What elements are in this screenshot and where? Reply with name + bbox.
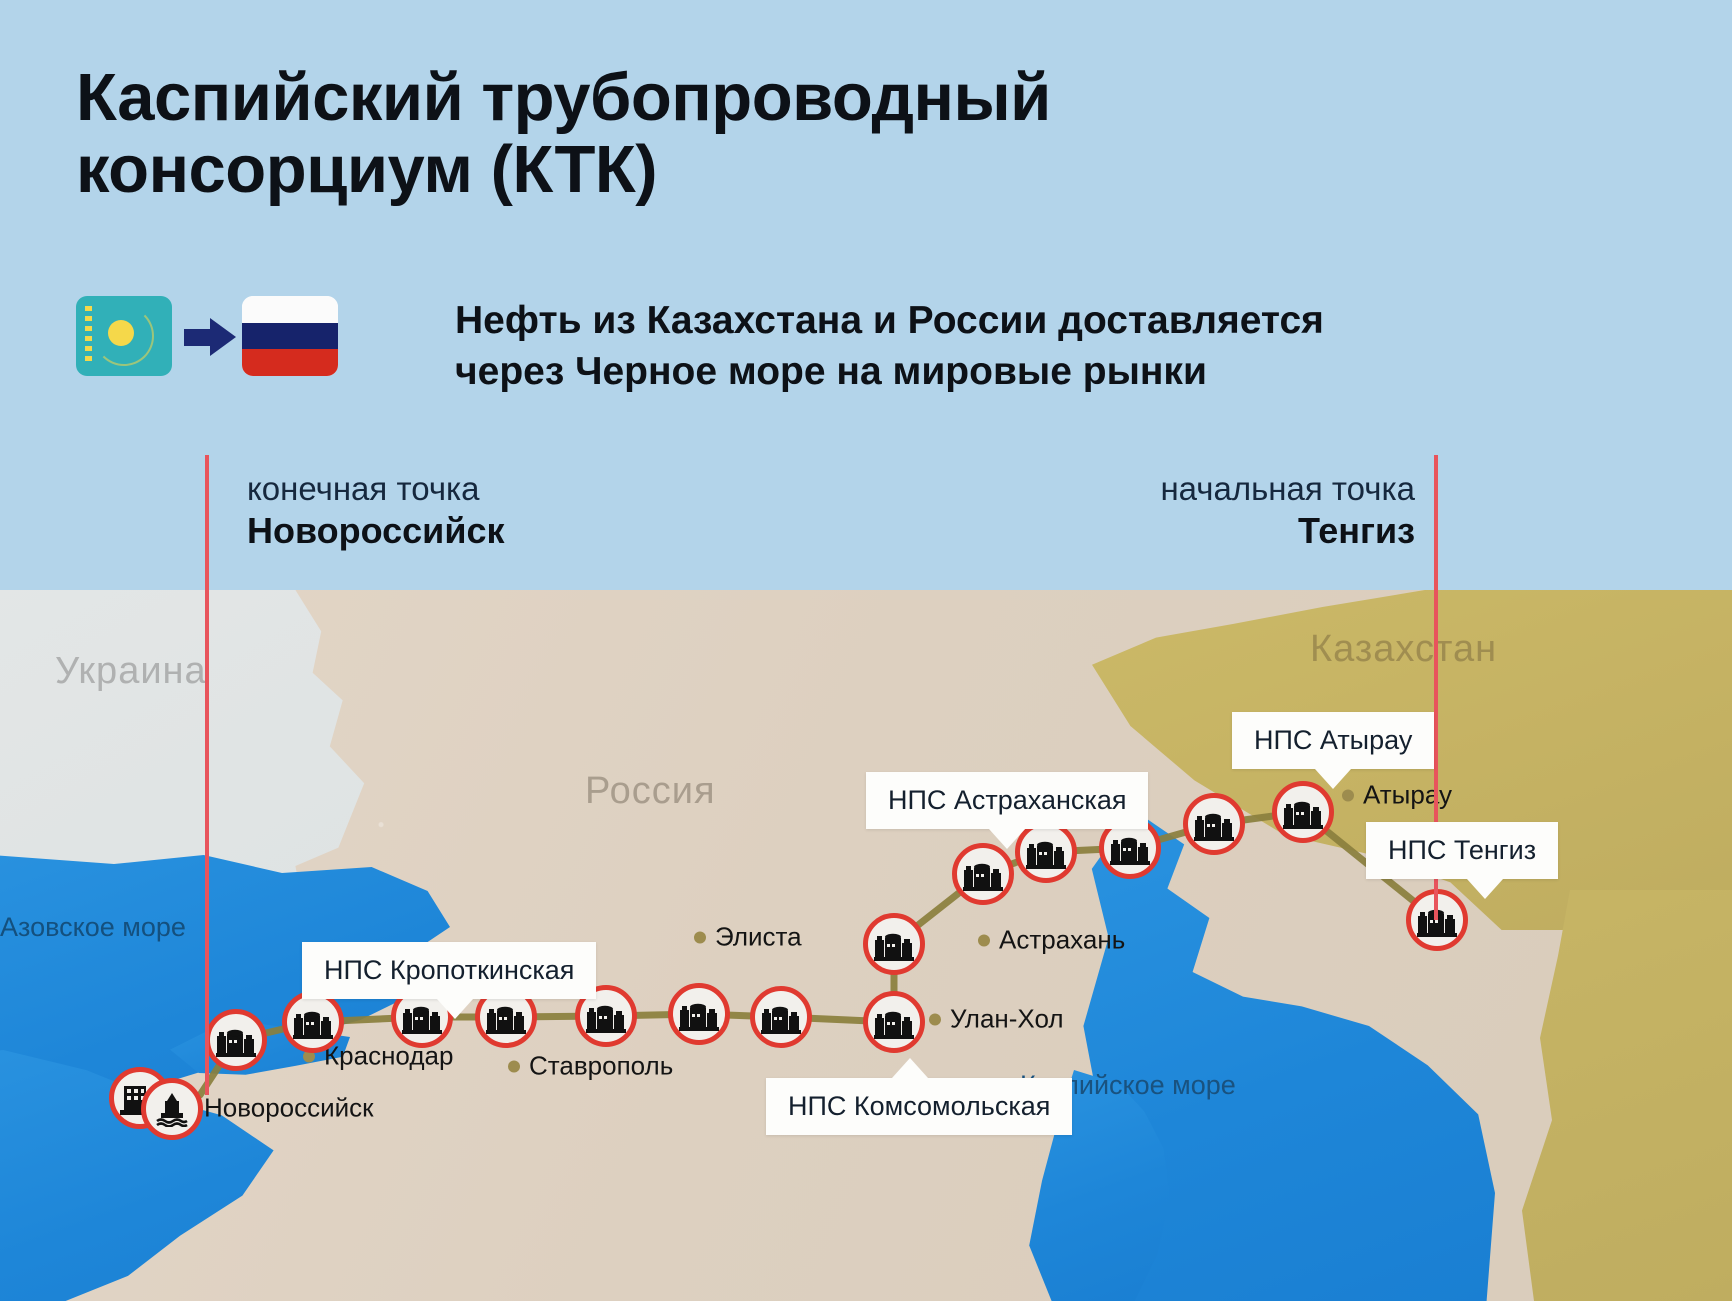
oil-buoy-icon <box>156 1091 188 1127</box>
station-marker-novorossiysk-port[interactable] <box>141 1078 203 1140</box>
station-marker-station-14[interactable] <box>1272 781 1334 843</box>
pump-station-icon <box>874 1004 914 1040</box>
callout-pointer <box>1315 769 1351 789</box>
city-dot <box>508 1060 520 1072</box>
subtitle-line-2: через Черное море на мировые рынки <box>455 347 1615 398</box>
kz-ornament <box>85 306 92 366</box>
callout-label: НПС Кропоткинская <box>324 955 574 985</box>
arrow-right-icon <box>184 318 236 356</box>
callout-2[interactable]: НПС Атырау <box>1232 712 1434 769</box>
pump-station-icon <box>216 1022 256 1058</box>
city-label: Элиста <box>715 922 802 953</box>
pump-station-icon <box>293 1004 333 1040</box>
callout-pointer <box>437 999 473 1019</box>
city-novorossiysk: Новороссийск <box>183 1093 374 1124</box>
kazakhstan-flag-icon <box>76 296 172 376</box>
pump-station-icon <box>586 998 626 1034</box>
station-marker-station-2[interactable] <box>282 991 344 1053</box>
station-marker-station-9[interactable] <box>863 991 925 1053</box>
callout-label: НПС Тенгиз <box>1388 835 1536 865</box>
endpoint-label-novorossiysk: конечная точка Новороссийск <box>247 470 504 552</box>
station-marker-station-13[interactable] <box>1183 793 1245 855</box>
endpoint-right-name: Тенгиз <box>1160 509 1415 552</box>
header-panel: Каспийский трубопроводный консорциум (КТ… <box>0 0 1732 660</box>
callout-4[interactable]: НПС Комсомольская <box>766 1078 1072 1135</box>
callout-pointer <box>989 829 1025 849</box>
city-ulan-khol: Улан-Хол <box>929 1004 1064 1035</box>
pump-station-icon <box>761 999 801 1035</box>
infographic-root: Каспийский трубопроводный консорциум (КТ… <box>0 0 1732 1301</box>
pump-station-icon <box>1283 794 1323 830</box>
endpoint-right-caption: начальная точка <box>1160 470 1415 509</box>
station-marker-station-8[interactable] <box>863 913 925 975</box>
subtitle: Нефть из Казахстана и России доставляетс… <box>455 296 1615 397</box>
city-dot <box>978 934 990 946</box>
pump-station-icon <box>1026 834 1066 870</box>
city-astrakhan: Астрахань <box>978 925 1125 956</box>
callout-pointer <box>892 1058 928 1078</box>
callout-label: НПС Атырау <box>1254 725 1412 755</box>
endpoint-left-name: Новороссийск <box>247 509 504 552</box>
guide-line-novorossiysk <box>205 455 209 1095</box>
station-marker-station-7[interactable] <box>750 986 812 1048</box>
russia-flag-icon <box>242 296 338 376</box>
city-label: Атырау <box>1363 780 1452 811</box>
city-stavropol: Ставрополь <box>508 1051 673 1082</box>
pump-station-icon <box>486 999 526 1035</box>
pump-station-icon <box>963 856 1003 892</box>
subtitle-line-1: Нефть из Казахстана и России доставляетс… <box>455 296 1615 347</box>
pump-station-icon <box>1110 830 1150 866</box>
pump-station-icon <box>1194 806 1234 842</box>
city-label: Улан-Хол <box>950 1004 1064 1035</box>
pump-station-icon <box>679 996 719 1032</box>
kz-sun <box>108 320 134 346</box>
endpoint-left-caption: конечная точка <box>247 470 504 509</box>
city-elista: Элиста <box>694 922 802 953</box>
title-line-2: консорциум (КТК) <box>76 134 1476 206</box>
page-title: Каспийский трубопроводный консорциум (КТ… <box>76 62 1476 205</box>
city-dot <box>1342 789 1354 801</box>
station-marker-station-10[interactable] <box>952 843 1014 905</box>
city-label: Новороссийск <box>204 1093 374 1124</box>
callout-label: НПС Астраханская <box>888 785 1126 815</box>
flag-flow <box>76 296 376 382</box>
endpoint-label-tengiz: начальная точка Тенгиз <box>1160 470 1415 552</box>
station-marker-station-6[interactable] <box>668 983 730 1045</box>
sea-label-azov: Азовское море <box>0 912 186 943</box>
station-marker-station-1[interactable] <box>205 1009 267 1071</box>
city-dot <box>694 931 706 943</box>
city-label: Астрахань <box>999 925 1125 956</box>
city-dot <box>929 1013 941 1025</box>
city-label: Ставрополь <box>529 1051 673 1082</box>
callout-0[interactable]: НПС Кропоткинская <box>302 942 596 999</box>
title-line-1: Каспийский трубопроводный <box>76 62 1476 134</box>
callout-3[interactable]: НПС Тенгиз <box>1366 822 1558 879</box>
callout-pointer <box>1467 879 1503 899</box>
callout-label: НПС Комсомольская <box>788 1091 1050 1121</box>
pump-station-icon <box>874 926 914 962</box>
callout-1[interactable]: НПС Астраханская <box>866 772 1148 829</box>
